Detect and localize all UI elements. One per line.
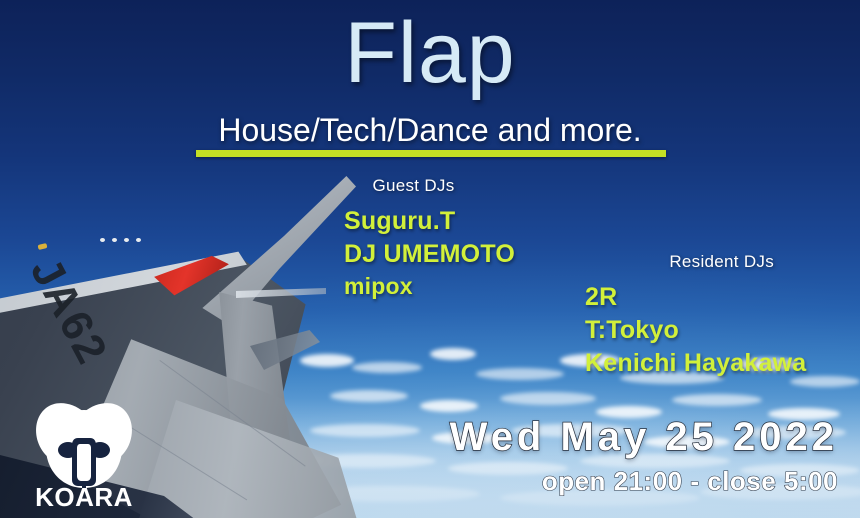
event-subtitle: House/Tech/Dance and more.: [0, 112, 860, 149]
resident-dj-heading: Resident DJs: [585, 252, 806, 272]
guest-dj-heading: Guest DJs: [344, 176, 515, 196]
guest-dj-name: DJ UMEMOTO: [344, 238, 515, 271]
guest-dj-name: Suguru.T: [344, 205, 515, 238]
resident-dj-name: T:Tokyo: [585, 314, 806, 347]
guest-dj-name: mipox: [344, 271, 515, 301]
resident-dj-block: Resident DJs 2R T:Tokyo Kenichi Hayakawa: [585, 252, 806, 380]
resident-dj-name: 2R: [585, 281, 806, 314]
resident-dj-name: Kenichi Hayakawa: [585, 347, 806, 380]
koara-logo: KOARA: [22, 398, 146, 508]
event-title: Flap: [0, 8, 860, 98]
subtitle-underline-accent: [196, 150, 666, 157]
guest-dj-block: Guest DJs Suguru.T DJ UMEMOTO mipox: [344, 176, 515, 301]
koala-face-icon: KOARA: [22, 398, 146, 508]
flyer-content: Flap House/Tech/Dance and more. Guest DJ…: [0, 0, 860, 518]
event-flyer: JA62 Flap House/Tech/Dance and more. Gue…: [0, 0, 860, 518]
koara-wordmark: KOARA: [35, 482, 133, 508]
